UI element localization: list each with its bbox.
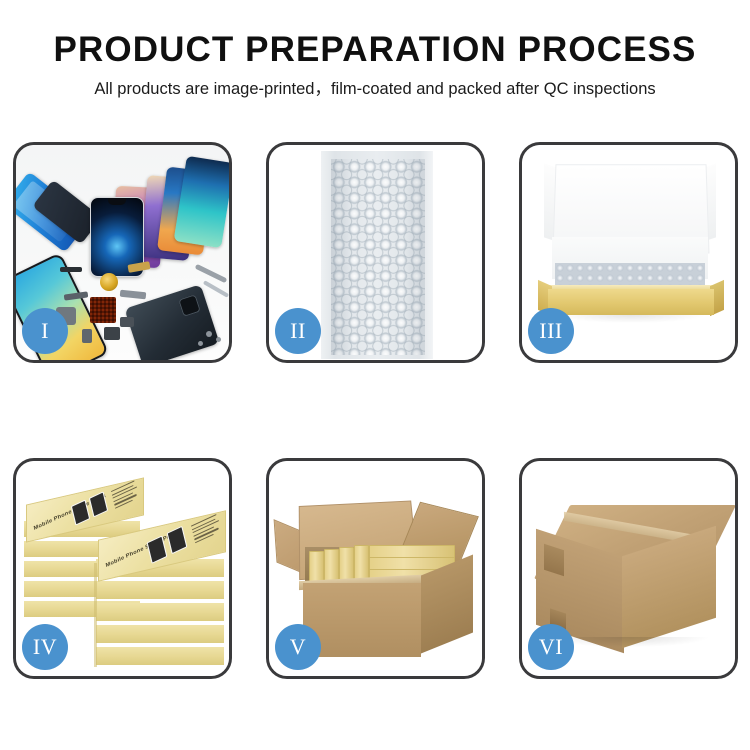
step-badge-6: VI: [528, 624, 574, 670]
box-front-panel: [548, 289, 714, 315]
retail-box-side: [96, 647, 224, 665]
page-header: PRODUCT PREPARATION PROCESS All products…: [0, 0, 750, 98]
step-panel-3[interactable]: III: [519, 142, 738, 363]
process-steps-grid: I II III: [13, 142, 737, 684]
step-panel-1[interactable]: I: [13, 142, 232, 363]
screw-part: [198, 341, 203, 346]
step-badge-4: IV: [22, 624, 68, 670]
box-spec-lines: [111, 480, 141, 512]
step-panel-5[interactable]: V: [266, 458, 485, 679]
box-spec-lines: [191, 513, 223, 545]
step-panel-6[interactable]: VI: [519, 458, 738, 679]
box-drop-shadow: [556, 315, 706, 323]
screw-part: [206, 331, 212, 337]
step-panel-2[interactable]: II: [266, 142, 485, 363]
step-badge-5: V: [275, 624, 321, 670]
small-component-part: [82, 329, 92, 343]
screw-part: [216, 337, 221, 342]
step-badge-1: I: [22, 308, 68, 354]
box-artwork-screen: [167, 526, 188, 554]
speaker-grille-part: [60, 267, 82, 272]
retail-box-side: [96, 581, 224, 599]
vibrator-motor-part: [104, 327, 120, 340]
page-title: PRODUCT PREPARATION PROCESS: [0, 32, 750, 67]
step-badge-2: II: [275, 308, 321, 354]
step-badge-3: III: [528, 308, 574, 354]
button-flex-part: [120, 317, 134, 327]
retail-box-side: [96, 603, 224, 621]
page-subtitle: All products are image-printed，film-coat…: [0, 81, 750, 98]
copper-coil-part: [100, 273, 118, 291]
step-panel-4[interactable]: Mobile Phone Spare Parts: [13, 458, 232, 679]
stack-seam: [94, 563, 97, 667]
circuit-chip-part: [90, 297, 116, 323]
bubble-edge-shading: [331, 159, 425, 355]
retail-box-side: [96, 625, 224, 643]
